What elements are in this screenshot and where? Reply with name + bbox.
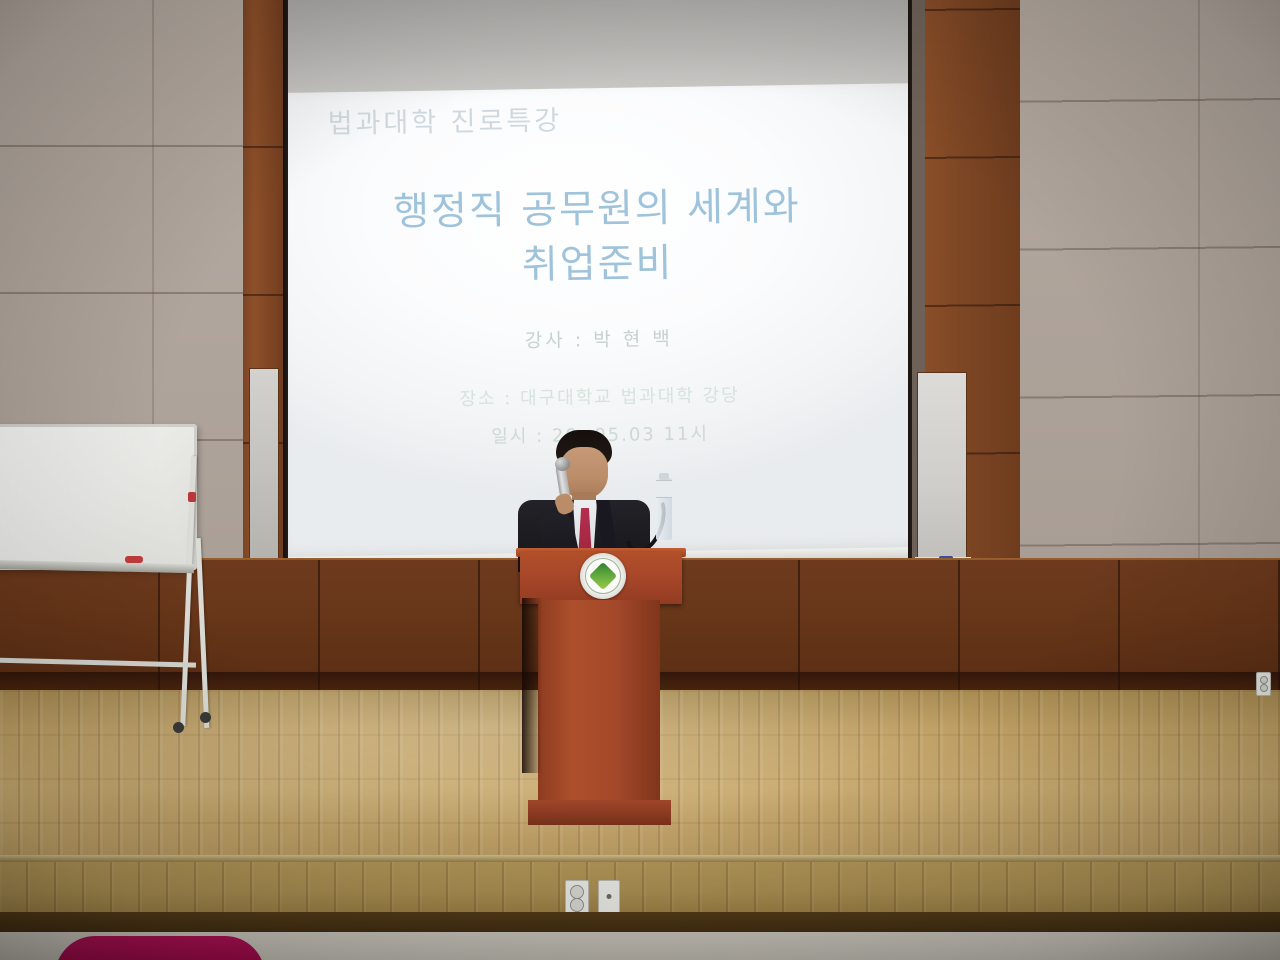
slide-title-line-2: 취업준비: [288, 233, 908, 297]
outlet-socket-top: [570, 885, 584, 899]
wall-outlet-socket-top: [1260, 676, 1268, 684]
stage-base-trim: [0, 912, 1280, 934]
water-bottle-cap: [659, 473, 669, 480]
slide-venue-line: 장소 : 대구대학교 법과대학 강당: [289, 379, 908, 414]
emblem-leaf-icon: [589, 562, 617, 590]
whiteboard-caster-right: [200, 712, 211, 723]
slide-title: 행정직 공무원의 세계와 취업준비: [288, 178, 908, 297]
recessed-wall-panel-left: [249, 368, 279, 560]
podium-column: [538, 600, 660, 815]
slide-speaker-line: 강사 : 박 현 백: [289, 321, 908, 357]
jack-port-icon: [607, 894, 612, 899]
slide-title-line-1: 행정직 공무원의 세계와: [288, 178, 907, 242]
duplex-power-outlet[interactable]: [565, 880, 589, 916]
wall-outlet-socket-bottom: [1260, 684, 1268, 692]
av-jack-plate[interactable]: [598, 880, 620, 916]
slide-kicker: 법과대학 진로특강: [327, 97, 658, 141]
university-emblem: [580, 553, 626, 599]
podium-shadow: [522, 598, 542, 773]
mobile-whiteboard[interactable]: [0, 424, 197, 570]
outlet-socket-bottom: [570, 898, 584, 912]
wall-mounted-board-right: [917, 372, 967, 559]
emblem-ring: [585, 558, 621, 594]
lecture-hall-photo: 법과대학 진로특강 행정직 공무원의 세계와 취업준비 강사 : 박 현 백 장…: [0, 0, 1280, 960]
podium-base: [528, 800, 671, 825]
whiteboard-height-knob[interactable]: [188, 492, 196, 502]
wall-outlet-right[interactable]: [1256, 672, 1271, 696]
audience-seat-back: [55, 936, 265, 960]
whiteboard-caster-left: [173, 722, 184, 733]
water-bottle-label: [656, 480, 672, 498]
stage-front-face: [0, 862, 1280, 916]
red-marker[interactable]: [125, 556, 143, 563]
